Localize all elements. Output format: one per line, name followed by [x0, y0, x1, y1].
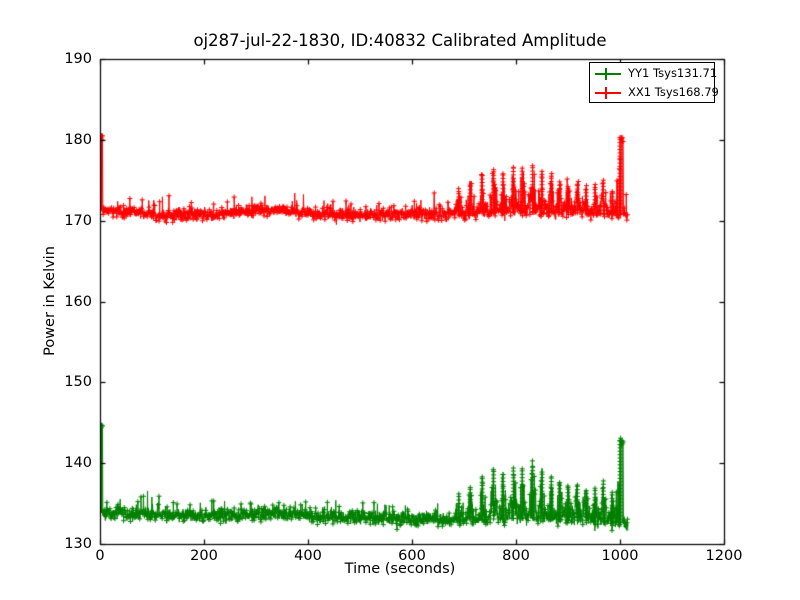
chart-title: oj287-jul-22-1830, ID:40832 Calibrated A… [0, 31, 800, 50]
x-tick-1200: 1200 [684, 548, 764, 564]
legend-marker-xx1 [605, 87, 607, 99]
legend-swatch-xx1 [595, 92, 621, 94]
legend-swatch-yy1 [595, 73, 621, 75]
y-tick-160: 160 [22, 294, 92, 310]
x-tick-400: 400 [268, 548, 348, 564]
legend-marker-yy1 [605, 68, 607, 80]
x-tick-200: 200 [164, 548, 244, 564]
legend-label-xx1: XX1 Tsys168.79 [628, 85, 719, 99]
y-tick-190: 190 [22, 51, 92, 67]
legend-entry-yy1: YY1 Tsys131.71 [590, 64, 714, 83]
x-tick-800: 800 [476, 548, 556, 564]
legend-label-yy1: YY1 Tsys131.71 [628, 66, 717, 80]
y-tick-170: 170 [22, 213, 92, 229]
y-tick-180: 180 [22, 132, 92, 148]
x-tick-600: 600 [372, 548, 452, 564]
y-tick-150: 150 [22, 374, 92, 390]
x-tick-1000: 1000 [580, 548, 660, 564]
chart-figure: oj287-jul-22-1830, ID:40832 Calibrated A… [0, 0, 800, 600]
y-tick-130: 130 [22, 536, 92, 552]
legend-entry-xx1: XX1 Tsys168.79 [590, 83, 714, 102]
y-tick-140: 140 [22, 455, 92, 471]
legend: YY1 Tsys131.71 XX1 Tsys168.79 [589, 62, 715, 103]
